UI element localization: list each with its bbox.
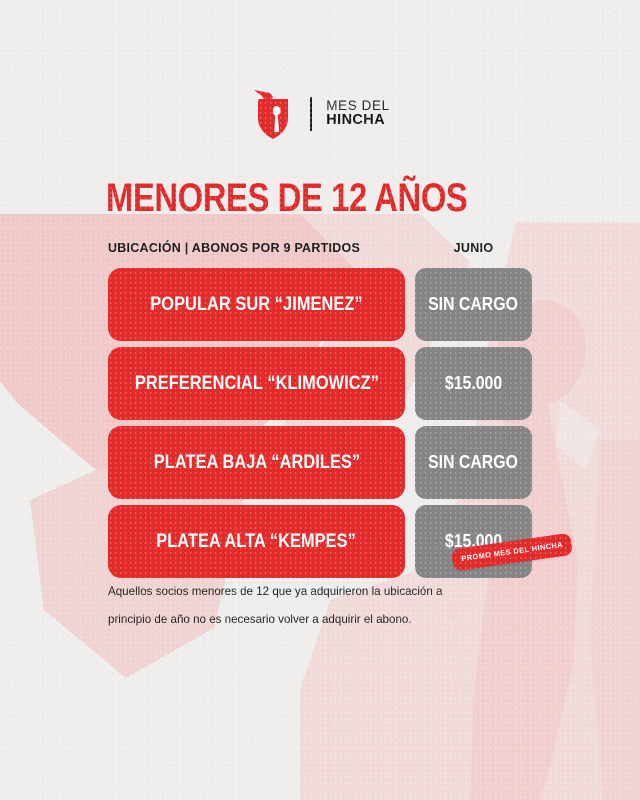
price-cell: $15.000 [415,347,532,420]
price-cell: SIN CARGO [415,426,532,499]
brand-logo: MES DEL HINCHA [0,88,640,140]
zone-label: PLATEA ALTA “KEMPES” [157,531,357,553]
shield-figure-logo-icon [250,88,298,140]
logo-line-2: HINCHA [326,113,389,129]
zone-cell: PLATEA BAJA “ARDILES” [108,426,405,499]
logo-wordmark: MES DEL HINCHA [326,99,389,129]
column-headers: UBICACIÓN | ABONOS POR 9 PARTIDOS JUNIO [108,241,532,255]
price-cell: SIN CARGO [415,268,532,341]
logo-line-1: MES DEL [326,99,389,114]
zone-cell: PREFERENCIAL “KLIMOWICZ” [108,347,405,420]
table-row: PREFERENCIAL “KLIMOWICZ” $15.000 [108,347,532,420]
zone-label: POPULAR SUR “JIMENEZ” [150,294,362,316]
zone-cell: POPULAR SUR “JIMENEZ” [108,268,405,341]
table-row: POPULAR SUR “JIMENEZ” SIN CARGO [108,268,532,341]
column-header-month: JUNIO [415,241,532,255]
footnote-line-1: Aquellos socios menores de 12 que ya adq… [108,578,508,606]
zone-cell: PLATEA ALTA “KEMPES” [108,505,405,578]
price-label: $15.000 [445,373,502,394]
zone-label: PREFERENCIAL “KLIMOWICZ” [134,373,378,395]
price-label: SIN CARGO [429,452,519,473]
footnote-line-2: principio de año no es necesario volver … [108,606,508,634]
zone-label: PLATEA BAJA “ARDILES” [153,452,359,474]
price-label: SIN CARGO [429,294,519,315]
price-table: POPULAR SUR “JIMENEZ” SIN CARGO PREFEREN… [108,268,532,584]
logo-divider [310,97,312,131]
promo-poster: MES DEL HINCHA MENORES DE 12 AÑOS UBICAC… [0,0,640,800]
table-row: PLATEA BAJA “ARDILES” SIN CARGO [108,426,532,499]
page-title: MENORES DE 12 AÑOS [106,178,467,218]
footnote: Aquellos socios menores de 12 que ya adq… [108,578,508,635]
column-header-location: UBICACIÓN | ABONOS POR 9 PARTIDOS [108,241,360,255]
